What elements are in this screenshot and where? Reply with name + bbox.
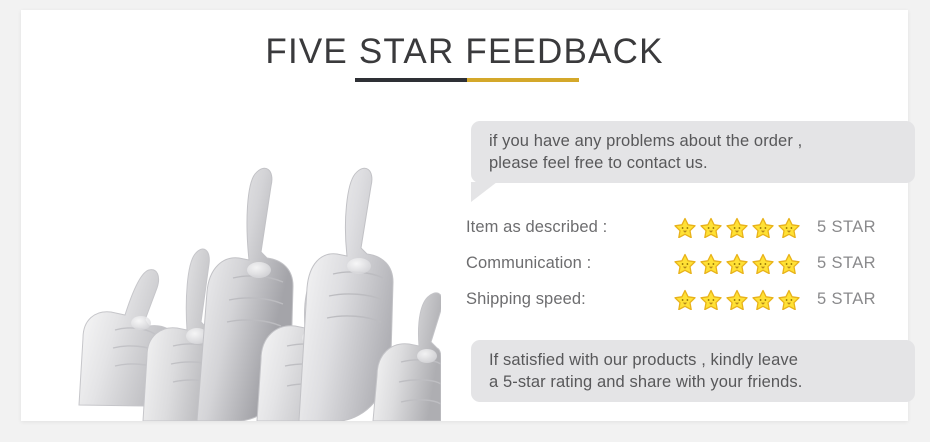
contact-message-bubble: if you have any problems about the order… [471, 121, 915, 183]
rating-row-item-as-described: Item as described : 5 STAR [466, 209, 906, 245]
star-icon [752, 289, 774, 310]
rating-row-communication: Communication : 5 STAR [466, 245, 906, 281]
thumbs-up-photo [21, 160, 441, 421]
rating-stars [674, 253, 817, 274]
contact-message-line2: please feel free to contact us. [489, 152, 899, 174]
star-icon [674, 253, 696, 274]
contact-message-line1: if you have any problems about the order… [489, 130, 899, 152]
star-icon [674, 289, 696, 310]
rating-request-note: If satisfied with our products , kindly … [471, 340, 915, 402]
rating-request-line1: If satisfied with our products , kindly … [489, 349, 901, 371]
rating-stars [674, 289, 817, 310]
star-icon [700, 217, 722, 238]
feedback-banner: FIVE STAR FEEDBACK [21, 10, 908, 421]
star-icon [700, 253, 722, 274]
rating-stars [674, 217, 817, 238]
rating-value: 5 STAR [817, 218, 876, 237]
speech-bubble-tail [471, 182, 497, 202]
rating-label: Shipping speed: [466, 290, 674, 309]
feedback-content-column: if you have any problems about the order… [450, 10, 908, 421]
rating-request-line2: a 5-star rating and share with your frie… [489, 371, 901, 393]
rating-label: Communication : [466, 254, 674, 273]
star-icon [674, 217, 696, 238]
rating-value: 5 STAR [817, 254, 876, 273]
star-icon [726, 217, 748, 238]
star-icon [726, 253, 748, 274]
star-icon [778, 253, 800, 274]
star-icon [726, 289, 748, 310]
star-icon [752, 253, 774, 274]
star-icon [752, 217, 774, 238]
ratings-list: Item as described : 5 STAR Communication… [466, 209, 906, 317]
rating-label: Item as described : [466, 218, 674, 237]
star-icon [700, 289, 722, 310]
star-icon [778, 289, 800, 310]
star-icon [778, 217, 800, 238]
rating-row-shipping-speed: Shipping speed: 5 STAR [466, 281, 906, 317]
rating-value: 5 STAR [817, 290, 876, 309]
